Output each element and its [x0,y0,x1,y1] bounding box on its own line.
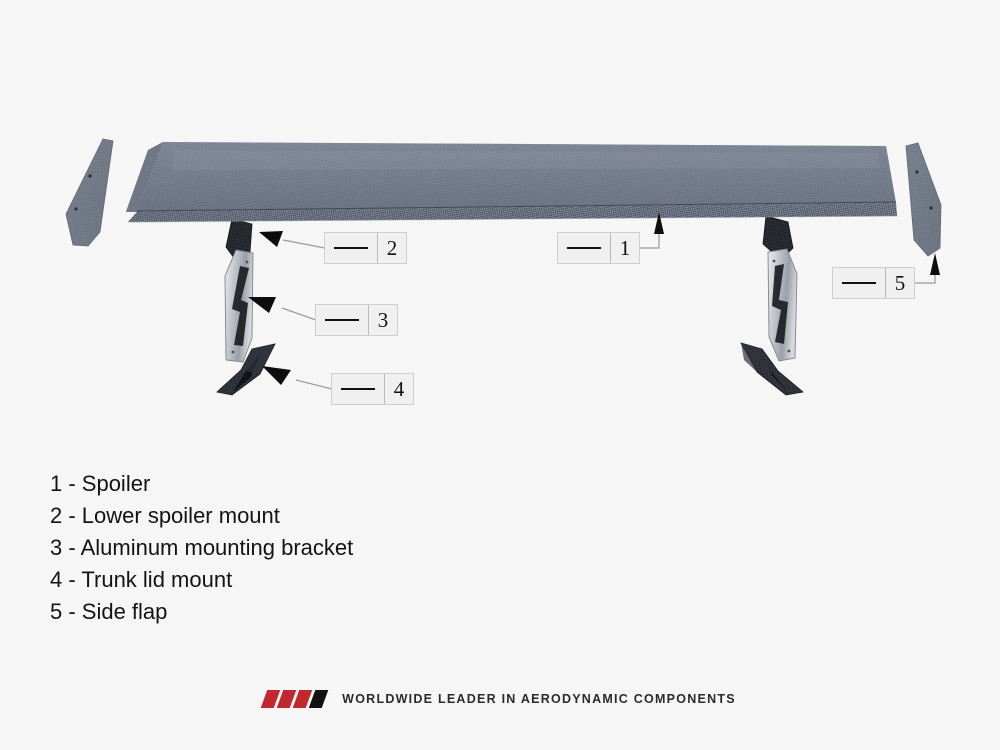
dash-icon [567,247,601,249]
callout-dash-cell [316,305,369,335]
dash-icon [842,282,876,284]
callout-dash-cell [325,233,378,263]
dash-icon [325,319,359,321]
legend-item-2: 2 - Lower spoiler mount [50,500,353,532]
callout-box-2[interactable]: 2 [324,232,407,264]
leader-4 [262,366,332,389]
callout-number: 5 [886,268,914,298]
legend-item-3: 3 - Aluminum mounting bracket [50,532,353,564]
leader-3 [248,297,316,320]
dash-icon [334,247,368,249]
parts-legend: 1 - Spoiler 2 - Lower spoiler mount 3 - … [50,468,353,628]
callout-leaders [0,0,1000,750]
callout-number: 1 [611,233,639,263]
callout-dash-cell [332,374,385,404]
legend-item-5: 5 - Side flap [50,596,353,628]
footer-tagline: WORLDWIDE LEADER IN AERODYNAMIC COMPONEN… [342,692,736,706]
leader-2 [259,231,325,248]
legend-item-1: 1 - Spoiler [50,468,353,500]
diagram-stage: 1 2 3 4 5 1 - Spoiler 2 - Lower spoiler … [0,0,1000,750]
callout-box-4[interactable]: 4 [331,373,414,405]
legend-item-4: 4 - Trunk lid mount [50,564,353,596]
callout-box-5[interactable]: 5 [832,267,915,299]
dash-icon [341,388,375,390]
callout-dash-cell [833,268,886,298]
callout-number: 4 [385,374,413,404]
callout-dash-cell [558,233,611,263]
leader-5 [913,253,940,283]
brand-logo-icon [264,690,328,708]
callout-number: 2 [378,233,406,263]
callout-box-3[interactable]: 3 [315,304,398,336]
leader-1 [638,212,664,248]
callout-number: 3 [369,305,397,335]
callout-box-1[interactable]: 1 [557,232,640,264]
footer: WORLDWIDE LEADER IN AERODYNAMIC COMPONEN… [0,690,1000,708]
logo-bar-4 [309,690,329,708]
